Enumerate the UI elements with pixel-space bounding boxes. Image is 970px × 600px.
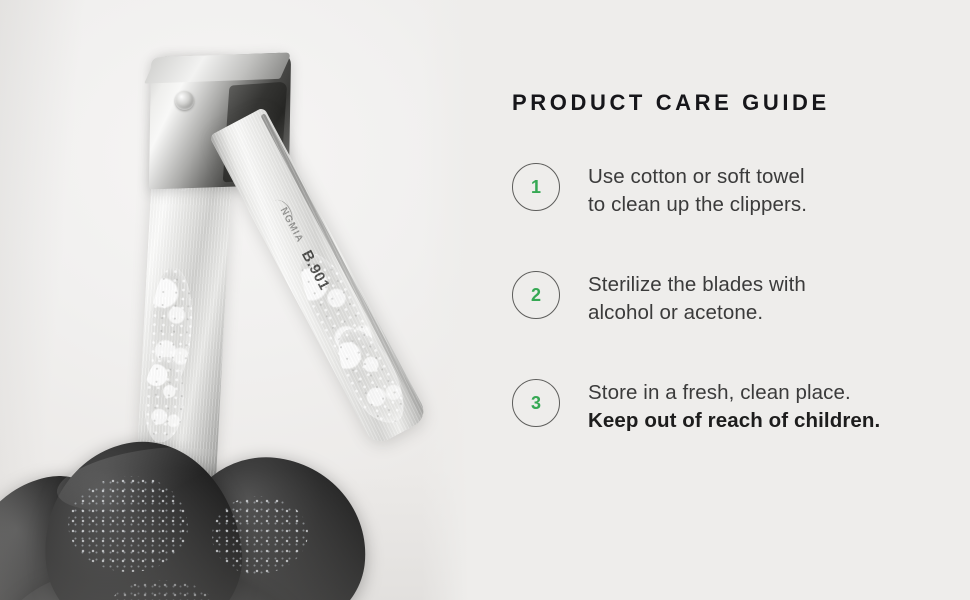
step-text: Sterilize the blades with alcohol or ace… — [588, 271, 806, 327]
step-text: Store in a fresh, clean place. Keep out … — [588, 379, 880, 435]
step-line: Sterilize the blades with — [588, 271, 806, 299]
step-line: Use cotton or soft towel — [588, 163, 807, 191]
step-line-emphasis: Keep out of reach of children. — [588, 407, 880, 435]
brand-mark-text: NGMIA — [273, 197, 310, 253]
step-number-badge: 3 — [512, 379, 560, 427]
page-title: PRODUCT CARE GUIDE — [512, 90, 830, 116]
step-line: Store in a fresh, clean place. — [588, 379, 880, 407]
photo-seam — [422, 0, 480, 600]
foam-patch — [286, 243, 389, 381]
clipper-rivet-pin — [175, 91, 194, 110]
list-item: 1 Use cotton or soft towel to clean up t… — [512, 163, 942, 271]
lever-edge-highlight — [260, 113, 424, 416]
step-text: Use cotton or soft towel to clean up the… — [588, 163, 807, 219]
product-care-guide-banner: NGMIA B.901 PRODUCT CARE GUIDE 1 — [0, 0, 970, 600]
step-number: 2 — [531, 286, 541, 304]
clipper-head-top-bevel — [144, 52, 292, 83]
care-guide-panel: PRODUCT CARE GUIDE 1 Use cotton or soft … — [480, 0, 970, 600]
list-item: 3 Store in a fresh, clean place. Keep ou… — [512, 379, 942, 487]
glove-water-droplets — [68, 476, 188, 572]
step-number: 3 — [531, 394, 541, 412]
step-number: 1 — [531, 178, 541, 196]
step-line: to clean up the clippers. — [588, 191, 807, 219]
step-number-badge: 1 — [512, 163, 560, 211]
model-mark-text: B.901 — [292, 237, 338, 303]
list-item: 2 Sterilize the blades with alcohol or a… — [512, 271, 942, 379]
step-number-badge: 2 — [512, 271, 560, 319]
care-steps-list: 1 Use cotton or soft towel to clean up t… — [512, 163, 942, 487]
gloved-hand — [0, 392, 380, 600]
brand-swoosh-icon — [272, 196, 298, 229]
foam-patch — [147, 266, 195, 388]
step-line: alcohol or acetone. — [588, 299, 806, 327]
product-photo: NGMIA B.901 — [0, 0, 480, 600]
